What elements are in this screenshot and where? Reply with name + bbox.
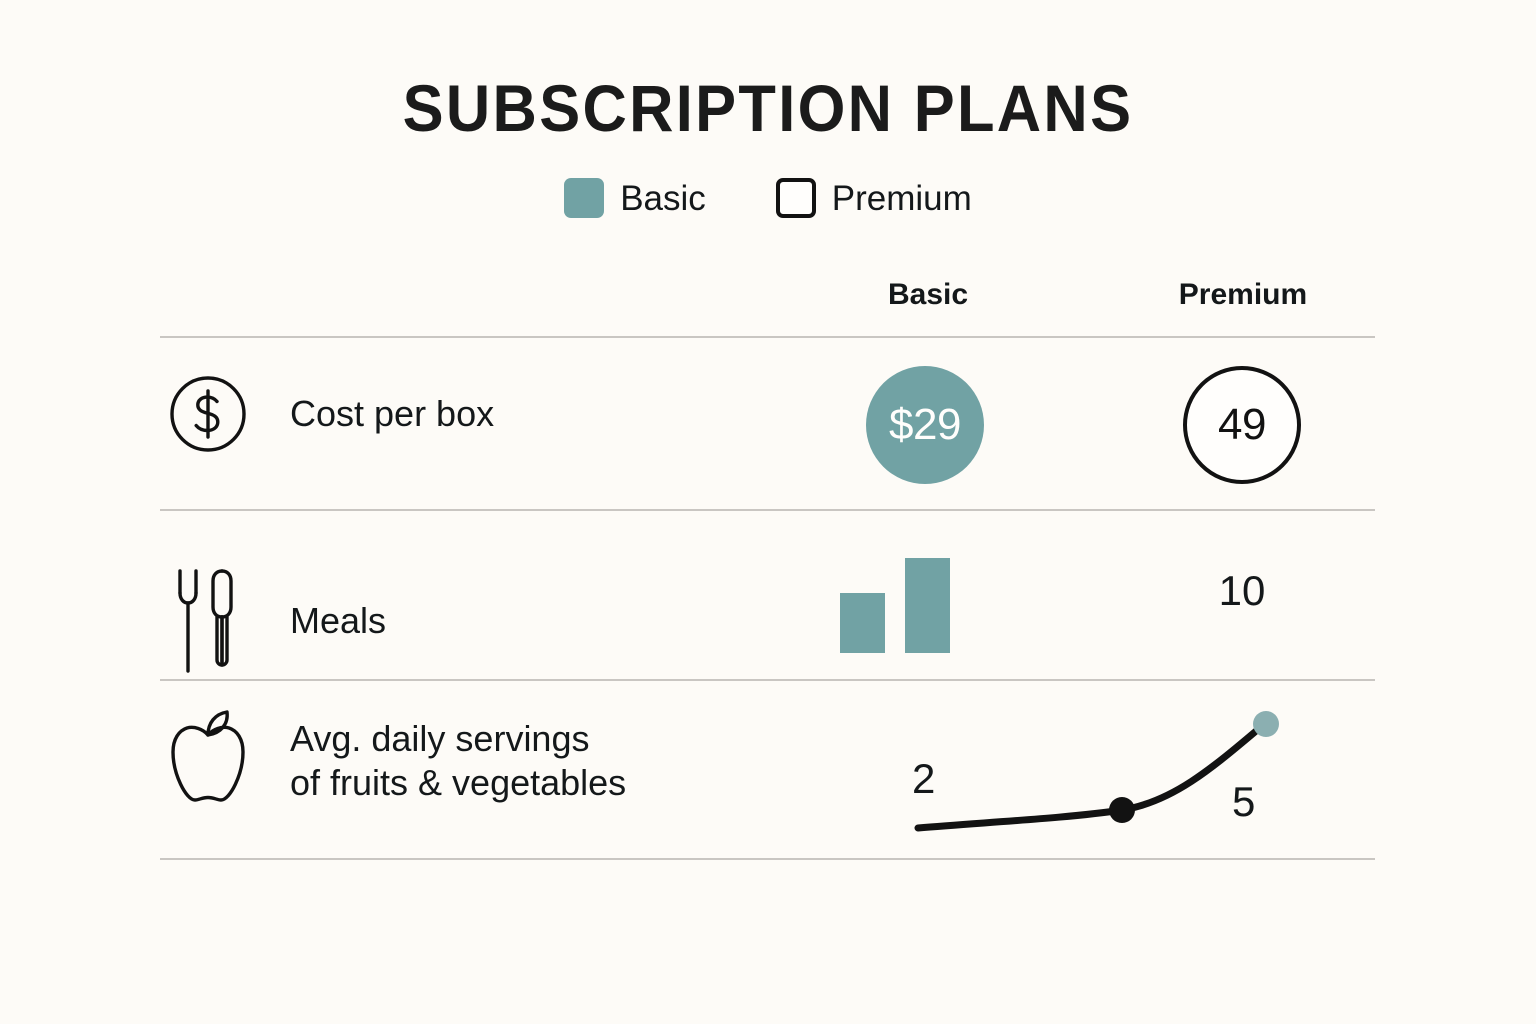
- outline-square-swatch-icon: [776, 178, 816, 218]
- divider: [160, 509, 1375, 511]
- filled-square-swatch-icon: [564, 178, 604, 218]
- row-label: Avg. daily servingsof fruits & vegetable…: [290, 717, 626, 805]
- cost-premium-value-badge: 49: [1183, 366, 1301, 484]
- column-header-basic: Basic: [800, 278, 1056, 312]
- apple-icon: [160, 705, 256, 817]
- cost-basic-value-badge: $29: [866, 366, 984, 484]
- row-label: Cost per box: [290, 392, 494, 436]
- infographic-canvas: SUBSCRIPTION PLANS Basic Premium Basic P…: [0, 0, 1536, 1024]
- servings-premium-value: 5: [1232, 778, 1255, 826]
- cost-premium-value: 49: [1218, 400, 1266, 450]
- cost-basic-value: $29: [889, 400, 961, 450]
- divider: [160, 336, 1375, 338]
- legend-item-label: Premium: [832, 181, 972, 216]
- sparkline-marker-premium: [1253, 711, 1279, 737]
- servings-basic-value: 2: [912, 755, 935, 803]
- legend-item-label: Basic: [620, 181, 706, 216]
- legend-item-basic[interactable]: Basic: [564, 178, 706, 218]
- dollar-circle-icon: [160, 368, 256, 460]
- servings-sparkline-chart: [910, 700, 1330, 850]
- row-label-line-1: Avg. daily servings: [290, 718, 589, 759]
- row-label-line-2: of fruits & vegetables: [290, 762, 626, 803]
- meals-premium-value: 10: [1183, 567, 1301, 615]
- divider: [160, 858, 1375, 860]
- page-title: SUBSCRIPTION PLANS: [54, 70, 1482, 146]
- divider: [160, 679, 1375, 681]
- bar: [905, 558, 950, 653]
- legend: Basic Premium: [0, 178, 1536, 218]
- column-header-premium: Premium: [1115, 278, 1371, 312]
- meals-basic-bar-chart: [840, 545, 960, 653]
- sparkline-marker-basic: [1109, 797, 1135, 823]
- row-label-group: Cost per box: [160, 368, 494, 460]
- bar: [840, 593, 885, 653]
- fork-knife-icon: [160, 565, 256, 677]
- row-label-group: Meals: [160, 565, 386, 677]
- row-label-group: Avg. daily servingsof fruits & vegetable…: [160, 705, 626, 817]
- legend-item-premium[interactable]: Premium: [776, 178, 972, 218]
- row-label: Meals: [290, 599, 386, 643]
